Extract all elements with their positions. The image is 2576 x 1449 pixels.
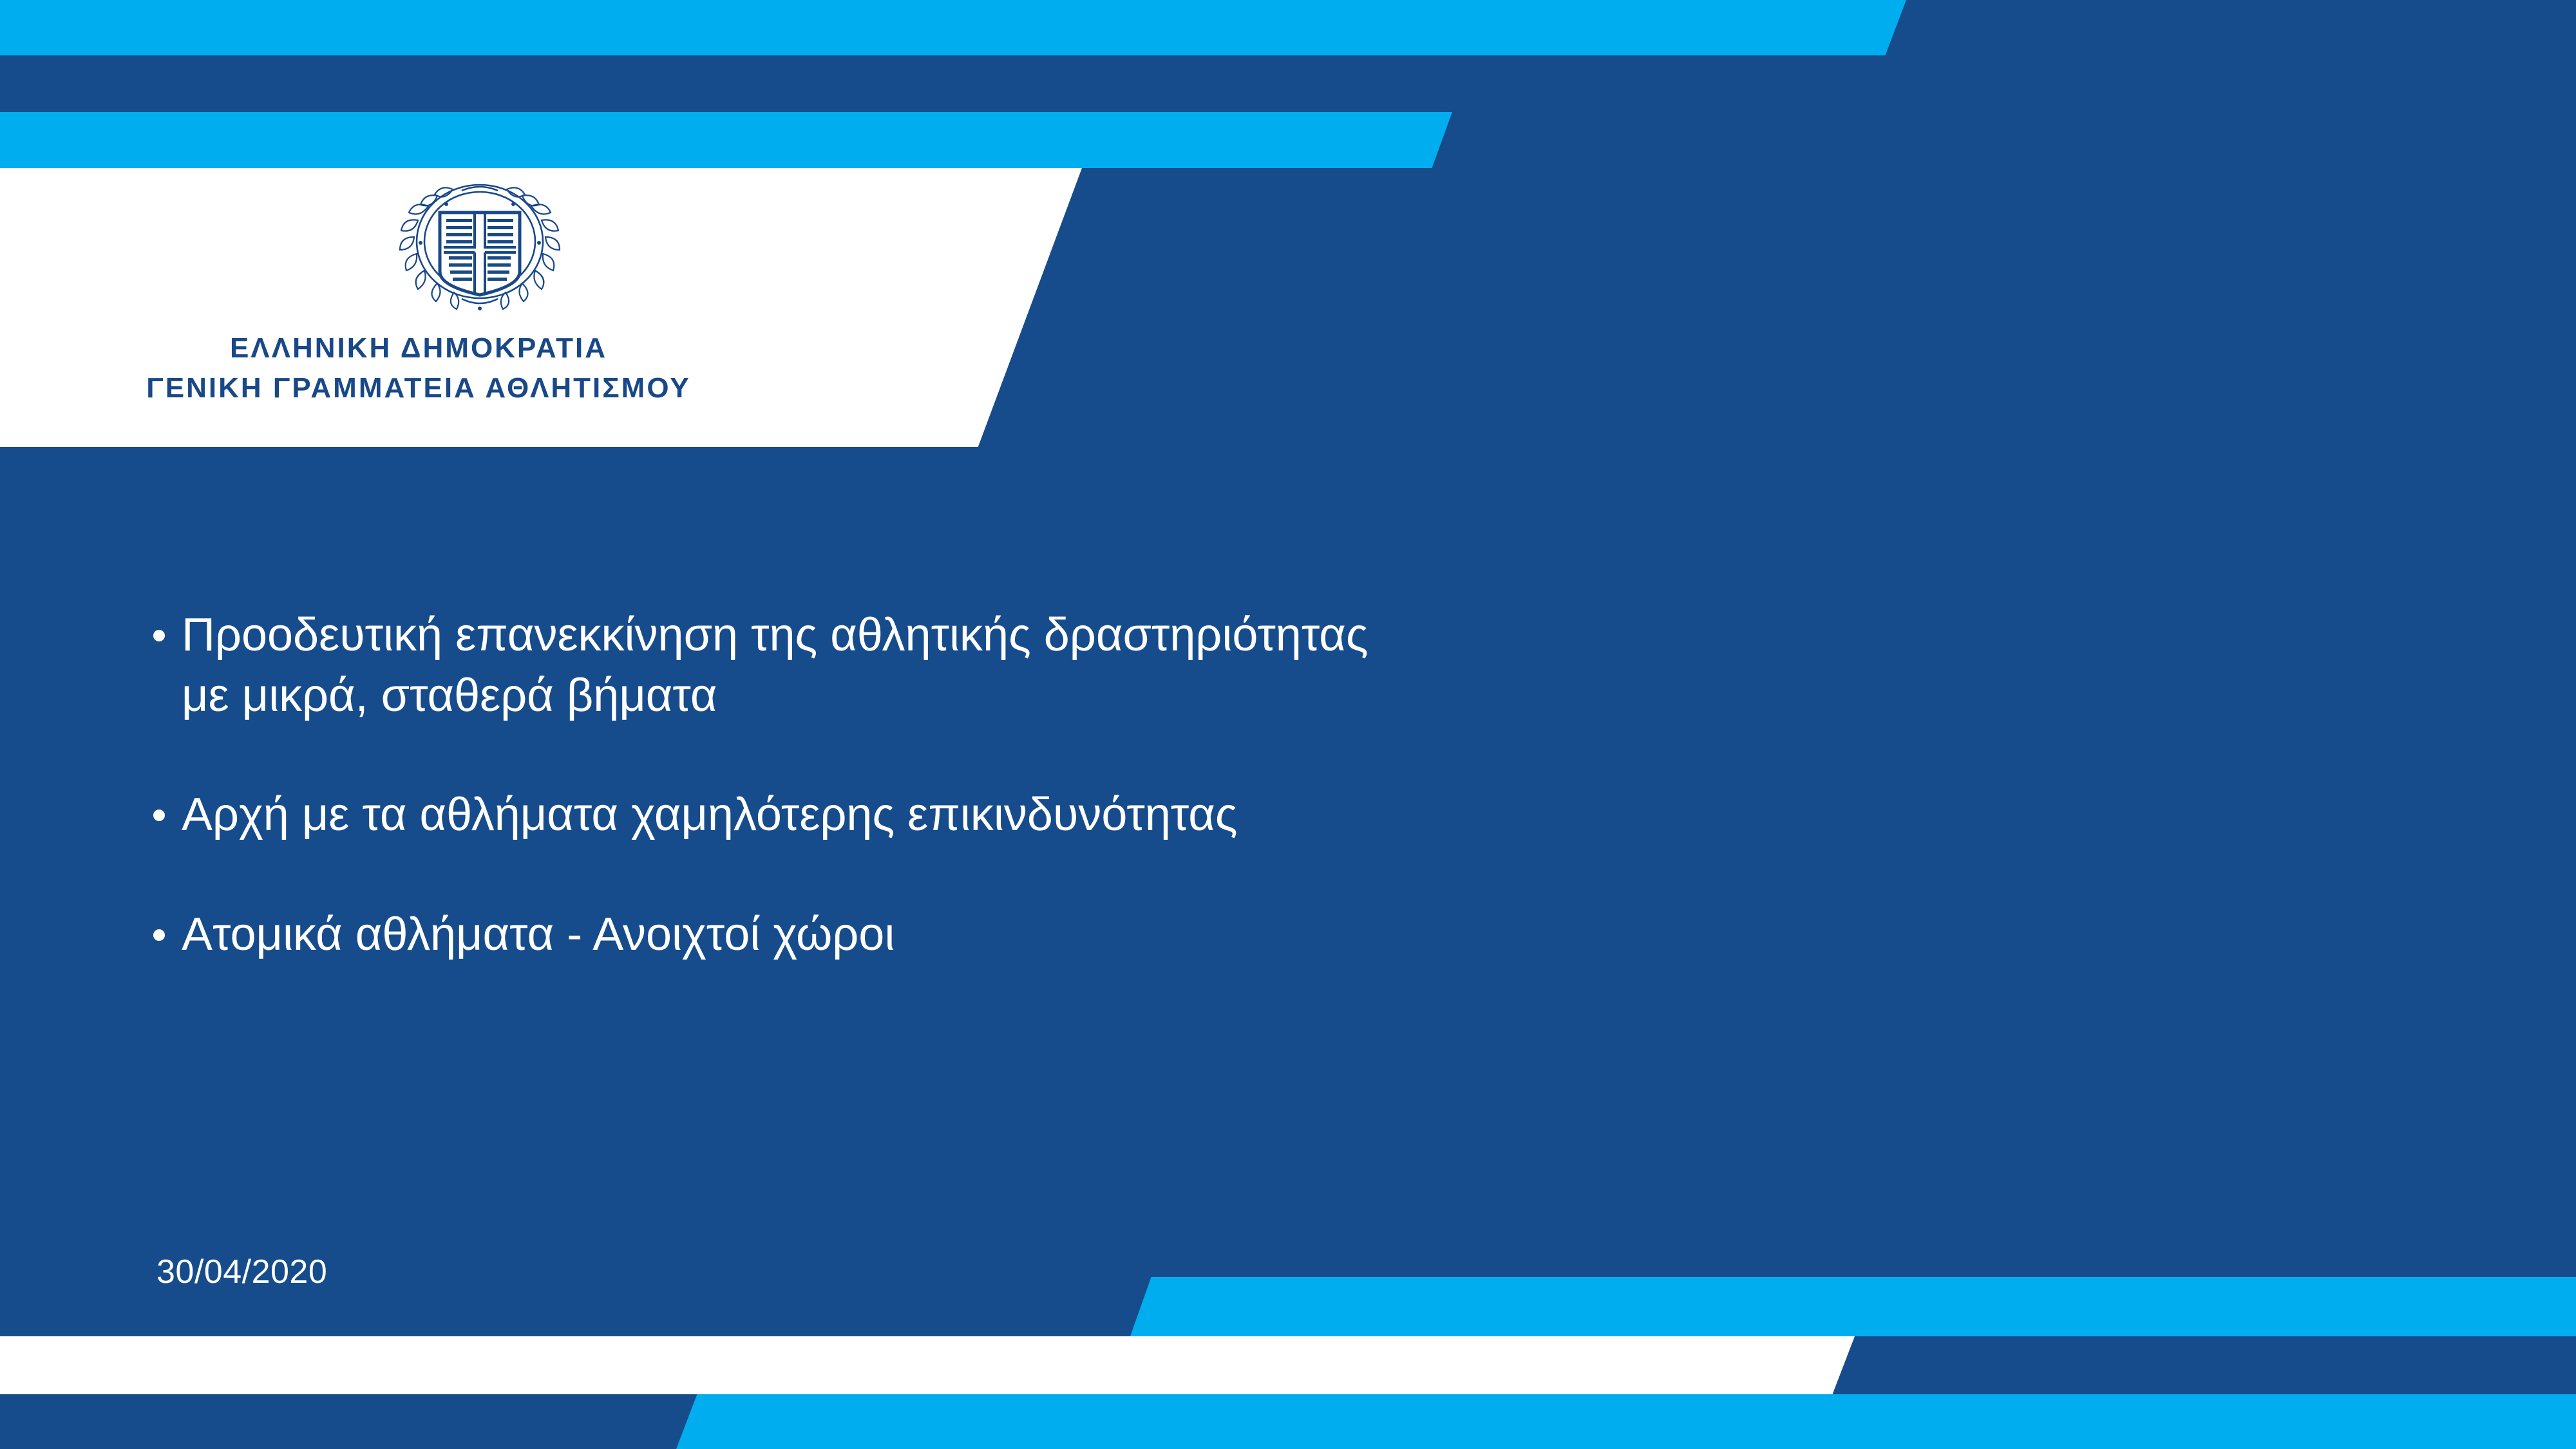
organisation-name: ΕΛΛΗΝΙΚΗ ΔΗΜΟΚΡΑΤΙΑ ΓΕΝΙΚΗ ΓΡΑΜΜΑΤΕΙΑ ΑΘ… [0, 328, 837, 409]
bullet-dot-icon [153, 929, 165, 941]
bottom-cyan-band-lower [676, 1394, 2576, 1449]
top-navy-band [0, 55, 757, 112]
org-line-republic: ΕΛΛΗΝΙΚΗ ΔΗΜΟΚΡΑΤΙΑ [0, 328, 837, 368]
org-line-secretariat: ΓΕΝΙΚΗ ΓΡΑΜΜΑΤΕΙΑ ΑΘΛΗΤΙΣΜΟΥ [0, 368, 837, 408]
bullet-list: Προοδευτική επανεκκίνηση της αθλητικής δ… [153, 605, 2343, 965]
bullet-text: Ατομικά αθλήματα - Ανοιχτοί χώροι [182, 905, 895, 965]
list-item: Ατομικά αθλήματα - Ανοιχτοί χώροι [153, 905, 2343, 965]
date-stamp: 30/04/2020 [156, 1253, 327, 1291]
greek-coat-of-arms-icon [390, 175, 570, 310]
top-cyan-band-upper [0, 0, 1906, 55]
bottom-cyan-band-upper [1130, 1277, 2576, 1336]
bullet-dot-icon [153, 810, 165, 821]
bullet-text: Αρχή με τα αθλήματα χαμηλότερης επικινδυ… [182, 785, 1238, 846]
list-item: Προοδευτική επανεκκίνηση της αθλητικής δ… [153, 605, 2343, 726]
list-item: Αρχή με τα αθλήματα χαμηλότερης επικινδυ… [153, 785, 2343, 846]
bottom-white-band [0, 1336, 1855, 1394]
presentation-slide: ΕΛΛΗΝΙΚΗ ΔΗΜΟΚΡΑΤΙΑ ΓΕΝΙΚΗ ΓΡΑΜΜΑΤΕΙΑ ΑΘ… [0, 0, 2576, 1449]
top-cyan-band-lower [0, 112, 1452, 168]
bullet-text: Προοδευτική επανεκκίνηση της αθλητικής δ… [182, 605, 1368, 726]
bullet-dot-icon [153, 630, 165, 641]
